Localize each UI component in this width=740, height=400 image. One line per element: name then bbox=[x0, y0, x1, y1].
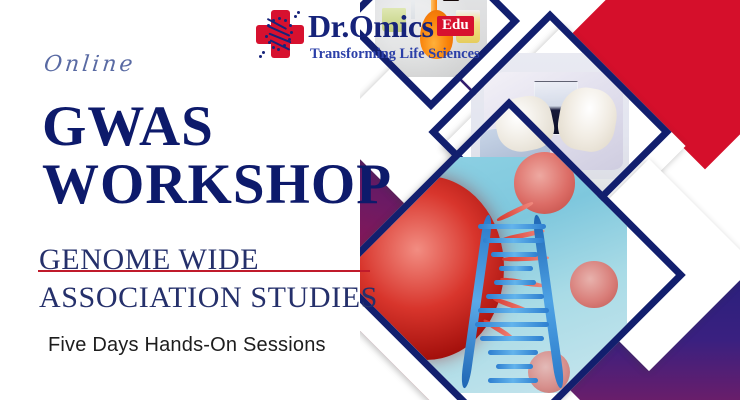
brand-logo: Dr.Omics Edu Transforming Life Sciences bbox=[252, 6, 492, 66]
medical-cross-dna-icon bbox=[256, 10, 304, 58]
session-footnote: Five Days Hands-On Sessions bbox=[48, 334, 326, 357]
page-title-line2: WORKSHOP bbox=[42, 156, 392, 213]
brand-tagline: Transforming Life Sciences bbox=[310, 46, 480, 63]
eyebrow-text: Online bbox=[43, 52, 137, 77]
dark-vial-shape bbox=[442, 0, 460, 1]
page-title-line1: GWAS bbox=[42, 98, 214, 155]
dna-helix-shape bbox=[462, 214, 594, 389]
red-divider-rule bbox=[38, 270, 370, 272]
promo-banner: Dr.Omics Edu Transforming Life Sciences … bbox=[0, 0, 740, 400]
brand-name: Dr.Omics bbox=[308, 8, 433, 45]
edu-badge: Edu bbox=[437, 16, 474, 36]
subtitle-line2: ASSOCIATION STUDIES bbox=[39, 281, 378, 315]
